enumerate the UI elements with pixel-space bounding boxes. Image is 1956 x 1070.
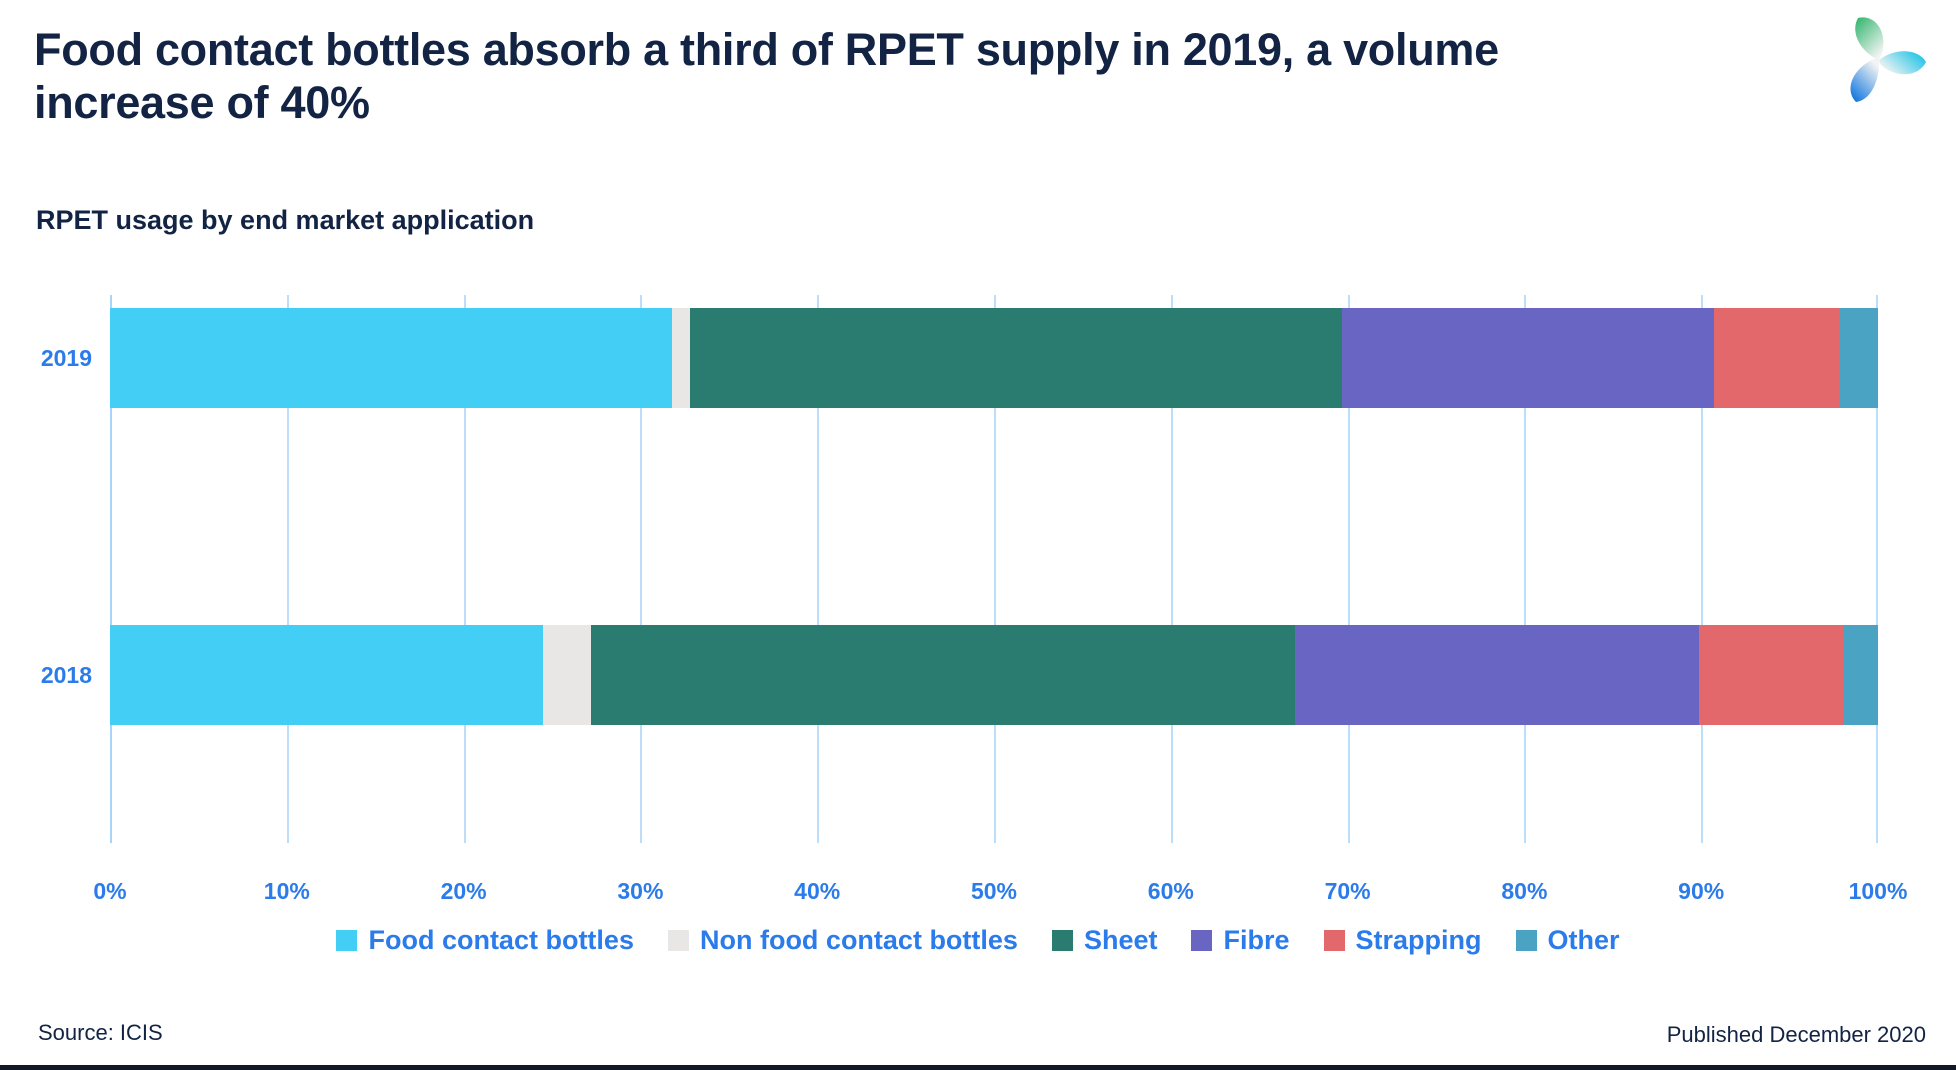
x-axis-tick-20%: 20% xyxy=(441,878,487,905)
legend-label: Sheet xyxy=(1084,925,1158,956)
published-note: Published December 2020 xyxy=(1667,1022,1926,1048)
bar-segment-other-2018 xyxy=(1843,625,1878,725)
bar-segment-food-contact-bottles-2019 xyxy=(110,308,672,408)
legend-label: Food contact bottles xyxy=(368,925,634,956)
x-axis-tick-10%: 10% xyxy=(264,878,310,905)
legend-item-food-contact-bottles[interactable]: Food contact bottles xyxy=(336,925,634,956)
x-axis-tick-0%: 0% xyxy=(93,878,126,905)
x-axis-ticks: 0%10%20%30%40%50%60%70%80%90%100% xyxy=(110,878,1878,918)
x-axis-tick-80%: 80% xyxy=(1501,878,1547,905)
legend-item-non-food-contact-bottles[interactable]: Non food contact bottles xyxy=(668,925,1018,956)
chart-subtitle: RPET usage by end market application xyxy=(36,205,534,236)
x-axis-tick-60%: 60% xyxy=(1148,878,1194,905)
x-axis-tick-50%: 50% xyxy=(971,878,1017,905)
legend-label: Strapping xyxy=(1356,925,1482,956)
icis-pinwheel-logo xyxy=(1820,8,1938,108)
bar-segment-sheet-2019 xyxy=(690,308,1342,408)
legend-swatch-icon xyxy=(1516,930,1537,951)
legend-label: Other xyxy=(1548,925,1620,956)
chart-legend: Food contact bottlesNon food contact bot… xyxy=(0,925,1956,956)
x-axis-tick-70%: 70% xyxy=(1325,878,1371,905)
bar-segment-strapping-2018 xyxy=(1699,625,1842,725)
y-axis-label-2019: 2019 xyxy=(41,345,92,372)
bar-segment-fibre-2019 xyxy=(1342,308,1713,408)
bar-segment-food-contact-bottles-2018 xyxy=(110,625,543,725)
legend-swatch-icon xyxy=(1052,930,1073,951)
bar-series-2018 xyxy=(110,625,1878,725)
legend-item-other[interactable]: Other xyxy=(1516,925,1620,956)
legend-item-fibre[interactable]: Fibre xyxy=(1191,925,1289,956)
legend-swatch-icon xyxy=(1324,930,1345,951)
y-axis-labels: 2019 2018 xyxy=(0,295,110,843)
source-note: Source: ICIS xyxy=(38,1020,163,1046)
legend-swatch-icon xyxy=(336,930,357,951)
x-axis-tick-100%: 100% xyxy=(1849,878,1908,905)
plot-area xyxy=(110,295,1878,843)
bar-segment-other-2019 xyxy=(1839,308,1878,408)
footer-divider xyxy=(0,1065,1956,1070)
x-axis-tick-40%: 40% xyxy=(794,878,840,905)
bar-segment-non-food-contact-bottles-2018 xyxy=(543,625,591,725)
bar-segment-fibre-2018 xyxy=(1295,625,1700,725)
page-title: Food contact bottles absorb a third of R… xyxy=(34,24,1634,129)
legend-item-sheet[interactable]: Sheet xyxy=(1052,925,1158,956)
legend-swatch-icon xyxy=(1191,930,1212,951)
y-axis-label-2018: 2018 xyxy=(41,662,92,689)
x-axis-tick-90%: 90% xyxy=(1678,878,1724,905)
x-axis-tick-30%: 30% xyxy=(617,878,663,905)
legend-swatch-icon xyxy=(668,930,689,951)
legend-label: Non food contact bottles xyxy=(700,925,1018,956)
legend-item-strapping[interactable]: Strapping xyxy=(1324,925,1482,956)
bar-segment-non-food-contact-bottles-2019 xyxy=(672,308,690,408)
legend-label: Fibre xyxy=(1223,925,1289,956)
bar-segment-sheet-2018 xyxy=(591,625,1295,725)
chart-page: Food contact bottles absorb a third of R… xyxy=(0,0,1956,1070)
bar-series-2019 xyxy=(110,308,1878,408)
bar-segment-strapping-2019 xyxy=(1714,308,1840,408)
